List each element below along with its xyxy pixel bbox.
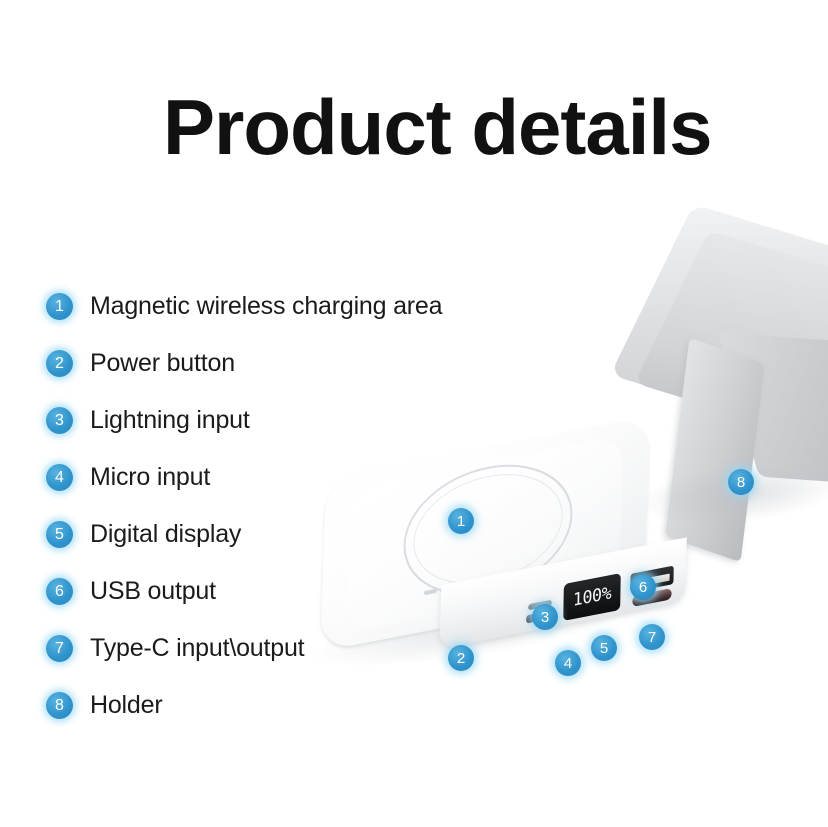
callout-badge-4: 4 [555,650,581,676]
digital-display-value: 100% [573,585,612,610]
legend-label-2: Power button [90,349,235,378]
legend-label-5: Digital display [90,520,241,549]
page-title: Product details [163,88,711,166]
legend-label-6: USB output [90,577,216,606]
callout-badge-5: 5 [591,635,617,661]
callout-badge-6: 6 [630,574,656,600]
legend-label-4: Micro input [90,463,210,492]
callout-badge-2: 2 [448,645,474,671]
product-photo: 100% 1 2 3 4 5 6 7 8 [300,250,828,720]
legend-badge-4: 4 [46,464,73,491]
legend-badge-8: 8 [46,692,73,719]
legend-badge-5: 5 [46,521,73,548]
power-bank-illustration: 100% [320,450,686,650]
legend-badge-1: 1 [46,293,73,320]
legend-badge-2: 2 [46,350,73,377]
callout-badge-7: 7 [639,624,665,650]
callout-badge-3: 3 [532,604,558,630]
callout-badge-8: 8 [728,469,754,495]
legend-badge-3: 3 [46,407,73,434]
product-details-page: Product details 1 Magnetic wireless char… [0,0,828,827]
legend-label-3: Lightning input [90,406,250,435]
legend-label-8: Holder [90,691,162,720]
legend-badge-6: 6 [46,578,73,605]
legend-label-7: Type-C input\output [90,634,304,663]
legend-badge-7: 7 [46,635,73,662]
callout-badge-1: 1 [448,508,474,534]
